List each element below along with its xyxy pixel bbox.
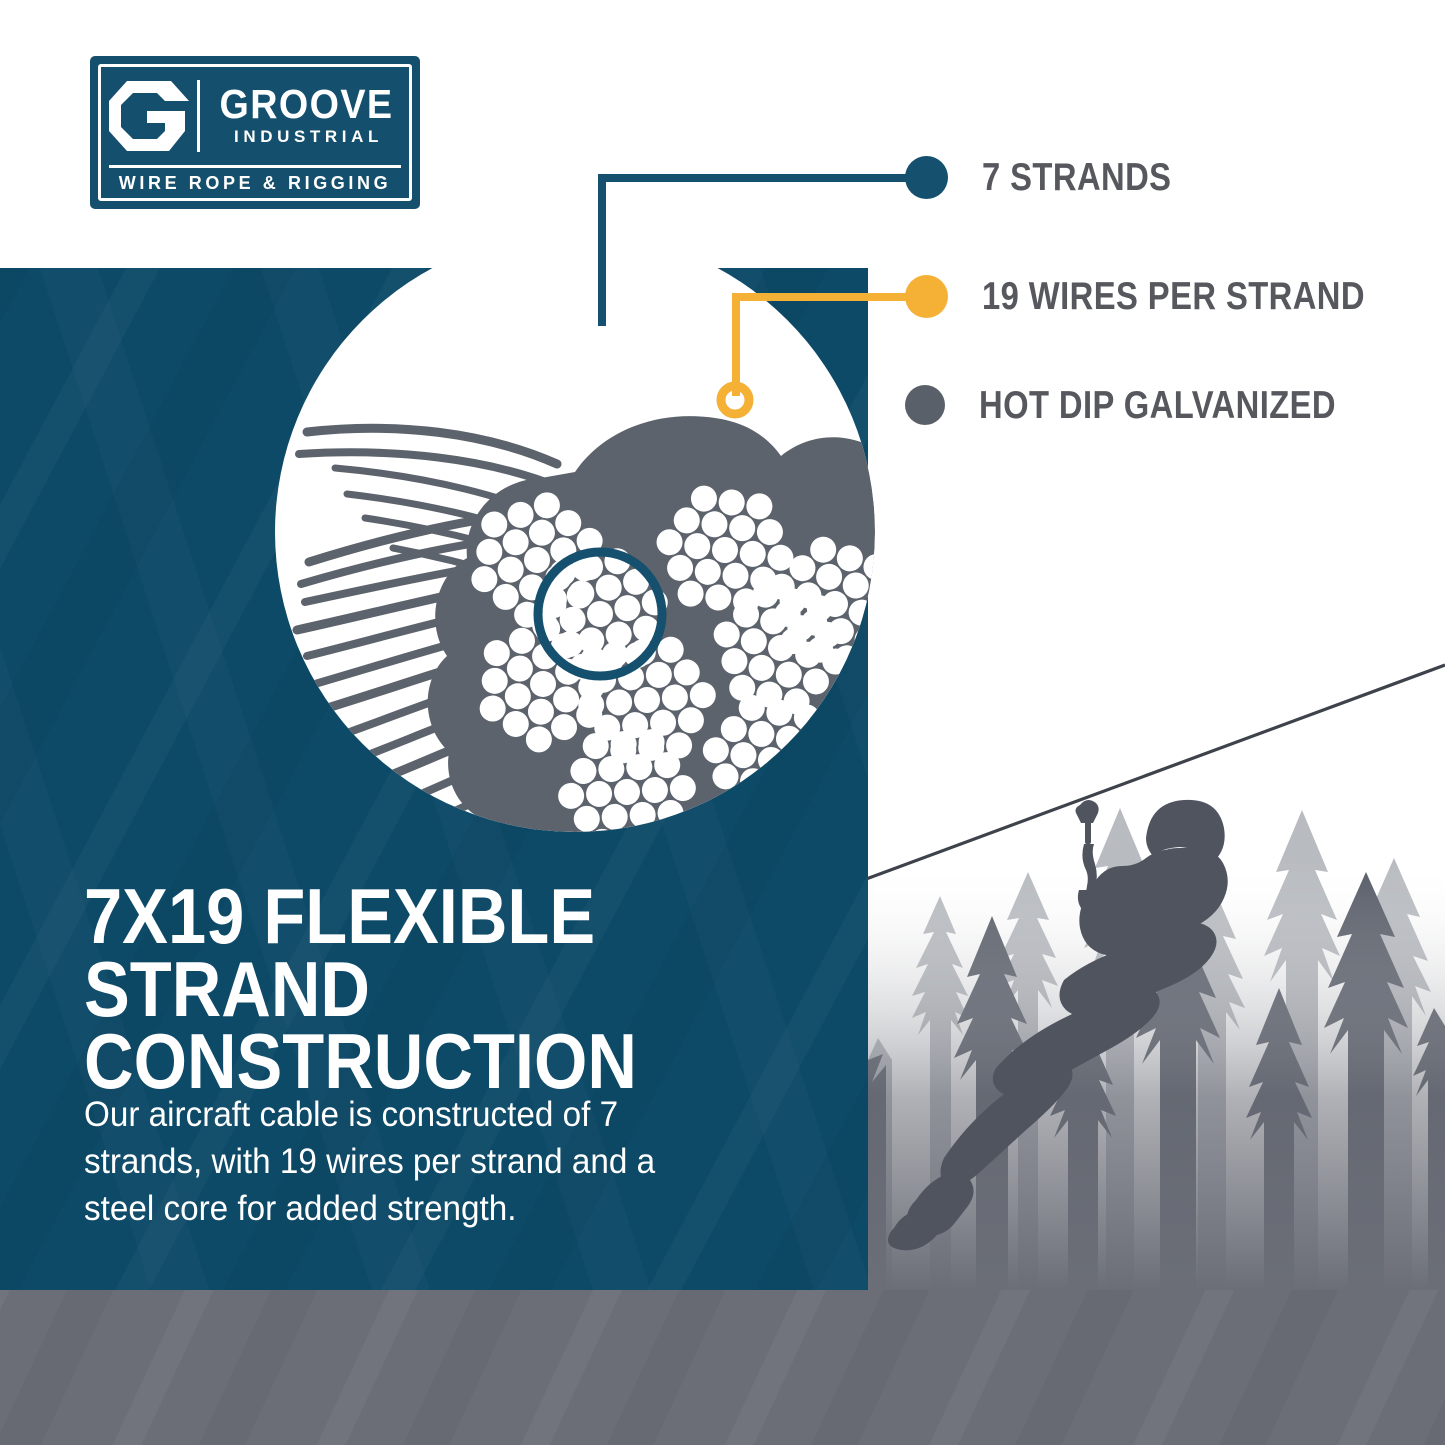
callout-label: 19 WIRES PER STRAND [982,277,1365,316]
rope-illustration-disc [275,232,875,832]
callout-dot-icon [905,156,948,199]
callout-label: HOT DIP GALVANIZED [979,386,1336,425]
footer-bar-texture [0,1290,1445,1445]
page-title: 7X19 FLEXIBLE STRAND CONSTRUCTION [84,880,753,1098]
logo-name-primary: GROOVE [220,85,394,124]
footer-bar [0,1290,1445,1445]
callout-hot-dip-galvanized: HOT DIP GALVANIZED [905,385,1404,425]
callout-wires-per-strand: 19 WIRES PER STRAND [905,275,1438,318]
infographic-canvas: GROOVE INDUSTRIAL WIRE ROPE & RIGGING 7 … [0,0,1445,1445]
callout-dot-icon [905,385,945,425]
page-description: Our aircraft cable is constructed of 7 s… [84,1092,730,1233]
zipline-scene [868,560,1445,1290]
page-title-line-2: STRAND CONSTRUCTION [84,953,753,1098]
zipline-scene-art [868,560,1445,1290]
callout-strands: 7 STRANDS [905,156,1208,199]
callout-label: 7 STRANDS [982,158,1171,197]
logo-name-secondary: INDUSTRIAL [230,128,383,147]
groove-g-hexagon-icon [101,67,197,165]
wire-highlight-ring [721,386,749,414]
logo-tagline: WIRE ROPE & RIGGING [119,173,391,194]
feature-callout-list: 7 STRANDS 19 WIRES PER STRAND HOT DIP GA… [900,140,1420,460]
wire-rope-cross-section [275,232,875,832]
callout-dot-icon [905,275,948,318]
brand-logo[interactable]: GROOVE INDUSTRIAL WIRE ROPE & RIGGING [90,56,420,209]
